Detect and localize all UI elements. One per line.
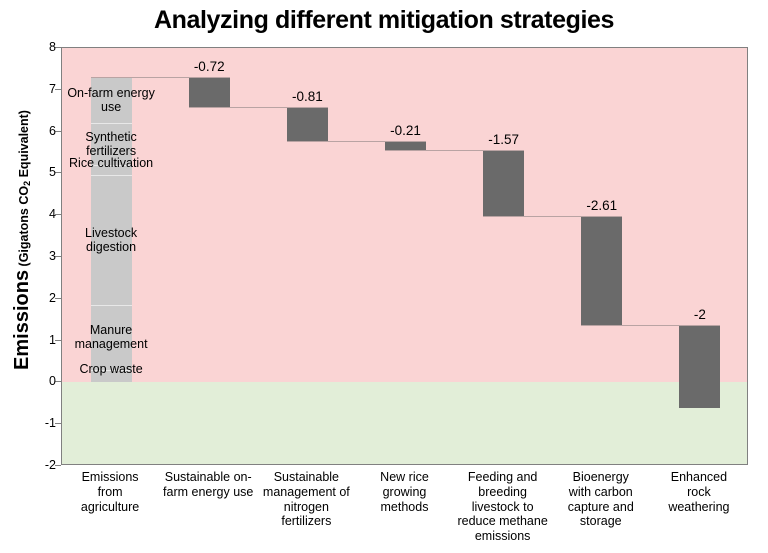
plot-area: On-farm energyuseSyntheticfertilizersRic…	[61, 47, 748, 465]
y-tick-label: 4	[16, 208, 56, 221]
waterfall-connector	[287, 141, 426, 142]
stack-segment-label: Syntheticfertilizers	[61, 130, 191, 158]
waterfall-connector	[385, 150, 524, 151]
x-category-label: Emissionsfromagriculture	[61, 470, 159, 514]
y-axis-title-main: Emissions	[11, 270, 33, 370]
bar-value-label: -2	[660, 308, 740, 322]
waterfall-bar	[287, 107, 328, 141]
bar-value-label: -0.21	[366, 124, 446, 138]
x-category-label: Sustainable on-farm energy use	[159, 470, 257, 500]
waterfall-connector	[91, 77, 230, 78]
waterfall-bar	[483, 150, 524, 216]
waterfall-bar	[581, 216, 622, 325]
y-tick-label: 0	[16, 375, 56, 388]
stack-segment-label: Livestockdigestion	[61, 226, 191, 254]
x-category-label: Sustainablemanagement ofnitrogenfertiliz…	[257, 470, 355, 529]
stack-segment-label: Manuremanagement	[61, 323, 191, 351]
waterfall-bar	[385, 141, 426, 150]
y-tick-label: 7	[16, 83, 56, 96]
y-tick-label: -1	[16, 417, 56, 430]
y-tick-label: 6	[16, 125, 56, 138]
y-tick-label: 2	[16, 292, 56, 305]
waterfall-bar	[679, 325, 720, 409]
bar-value-label: -2.61	[562, 199, 642, 213]
stack-segment-label: Rice cultivation	[61, 156, 191, 170]
y-tick-label: 5	[16, 166, 56, 179]
y-tick-label: 1	[16, 334, 56, 347]
x-category-label: Bioenergywith carboncapture andstorage	[552, 470, 650, 529]
stack-segment-label: On-farm energyuse	[61, 86, 191, 114]
y-tick-label: -2	[16, 459, 56, 472]
bar-value-label: -1.57	[464, 133, 544, 147]
waterfall-connector	[581, 325, 720, 326]
page-title: Analyzing different mitigation strategie…	[0, 6, 768, 35]
waterfall-connector	[189, 107, 328, 108]
y-tick-label: 8	[16, 41, 56, 54]
y-tick-label: 3	[16, 250, 56, 263]
x-category-label: Enhancedrockweathering	[650, 470, 748, 514]
x-category-label: Feeding andbreedinglivestock toreduce me…	[454, 470, 552, 544]
waterfall-connector	[483, 216, 622, 217]
stack-segment-label: Crop waste	[61, 362, 191, 376]
waterfall-bar	[189, 77, 230, 107]
bar-value-label: -0.81	[267, 90, 347, 104]
negative-emissions-band	[62, 382, 747, 465]
x-category-label: New ricegrowingmethods	[355, 470, 453, 514]
bar-value-label: -0.72	[169, 60, 249, 74]
